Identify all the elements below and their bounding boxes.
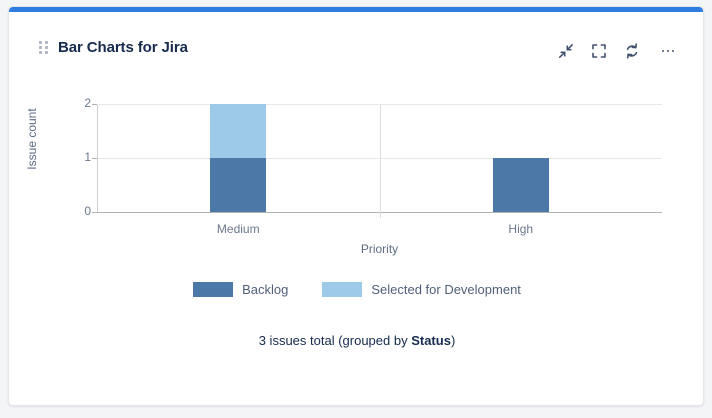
- refresh-icon[interactable]: [621, 40, 643, 62]
- drag-dot: [39, 51, 42, 54]
- bar-stack-high[interactable]: [493, 158, 549, 212]
- bar-segment-backlog[interactable]: [210, 158, 266, 212]
- drag-dot: [39, 46, 42, 49]
- x-tick-label-high: High: [441, 222, 601, 236]
- maximize-icon[interactable]: [588, 40, 610, 62]
- band-divider: [380, 105, 381, 218]
- chart-legend: Backlog Selected for Development: [9, 282, 704, 297]
- summary-group-field: Status: [411, 333, 451, 348]
- y-tick-mark: [92, 104, 97, 105]
- gadget-header: Bar Charts for Jira: [9, 12, 703, 60]
- drag-dot: [45, 41, 48, 44]
- drag-dot: [39, 41, 42, 44]
- drag-handle[interactable]: [39, 41, 49, 55]
- more-dot: [667, 50, 670, 53]
- collapse-icon[interactable]: [555, 40, 577, 62]
- gadget-card: Bar Charts for Jira: [8, 6, 704, 406]
- y-tick-mark: [92, 212, 97, 213]
- y-axis-line: [97, 105, 98, 213]
- more-options-icon[interactable]: [657, 40, 679, 62]
- legend-swatch-backlog: [193, 282, 233, 297]
- more-dot: [662, 50, 665, 53]
- legend-swatch-selected-for-development: [322, 282, 362, 297]
- y-tick-label: 0: [67, 204, 91, 218]
- drag-dot: [45, 51, 48, 54]
- plot-area: [97, 105, 662, 213]
- legend-label-selected-for-development: Selected for Development: [371, 282, 521, 297]
- legend-label-backlog: Backlog: [242, 282, 288, 297]
- y-axis-title: Issue count: [25, 94, 39, 184]
- x-axis-title: Priority: [97, 242, 662, 256]
- summary-text: 3 issues total (grouped by Status): [9, 333, 704, 348]
- gadget-title: Bar Charts for Jira: [58, 39, 188, 56]
- summary-prefix: 3 issues total (grouped by: [259, 333, 411, 348]
- legend-item-backlog[interactable]: Backlog: [193, 282, 288, 297]
- y-tick-mark: [92, 158, 97, 159]
- more-dot: [672, 50, 675, 53]
- legend-item-selected-for-development[interactable]: Selected for Development: [322, 282, 521, 297]
- x-tick-label-medium: Medium: [158, 222, 318, 236]
- bar-stack-medium[interactable]: [210, 104, 266, 212]
- chart-region: Issue count 2 1 0: [9, 60, 703, 405]
- plot-wrapper: Issue count 2 1 0: [9, 60, 704, 240]
- bar-segment-backlog[interactable]: [493, 158, 549, 212]
- drag-dot: [45, 46, 48, 49]
- y-tick-label: 2: [67, 96, 91, 110]
- bar-segment-selected-for-development[interactable]: [210, 104, 266, 158]
- summary-suffix: ): [451, 333, 455, 348]
- y-tick-label: 1: [67, 150, 91, 164]
